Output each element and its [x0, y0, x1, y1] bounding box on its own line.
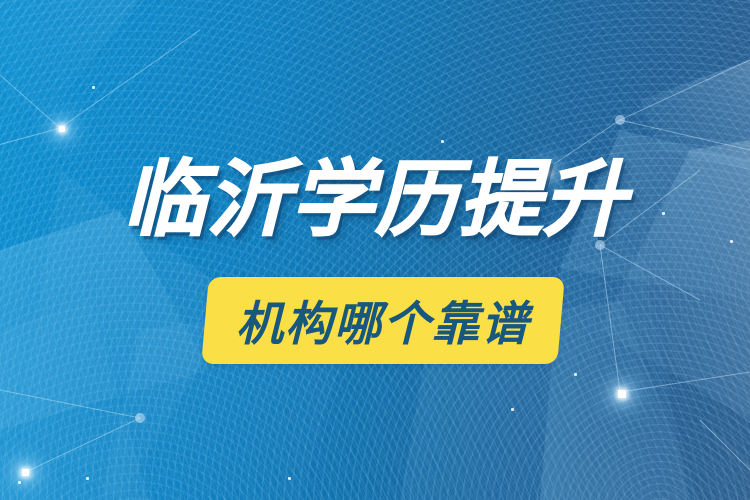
glow-node: [92, 86, 95, 89]
glow-node: [22, 469, 29, 476]
page-title: 临沂学历提升: [0, 158, 750, 241]
subtitle-banner: 机构哪个靠谱: [205, 277, 561, 364]
background-arc-pattern-2: [0, 0, 750, 500]
background-polygons: [0, 0, 750, 500]
glow-node: [288, 477, 291, 480]
background-arc-pattern: [0, 0, 750, 500]
background-arc-pattern-3: [0, 0, 750, 500]
glow-node: [86, 477, 89, 480]
background-hatch-texture: [0, 0, 750, 500]
promo-banner: 临沂学历提升 机构哪个靠谱: [0, 0, 750, 500]
glow-node: [441, 140, 444, 143]
glow-node: [18, 481, 21, 484]
glow-node: [511, 408, 514, 411]
glow-node: [59, 126, 65, 132]
subtitle-text: 机构哪个靠谱: [205, 277, 561, 364]
glow-node: [574, 373, 577, 376]
glow-node: [618, 390, 626, 398]
background-gradient: [0, 0, 750, 500]
